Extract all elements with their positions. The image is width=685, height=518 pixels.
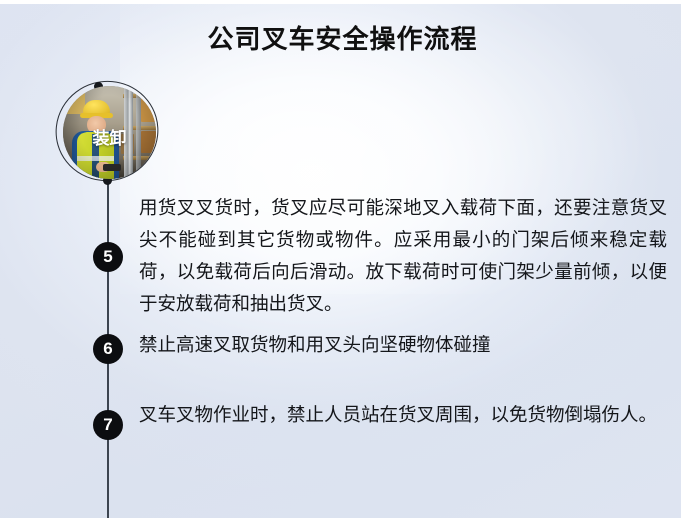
step-badge-5: 5 (93, 242, 123, 272)
worker-forklift-photo: 装卸 (63, 86, 156, 179)
photo-caption: 装卸 (63, 124, 156, 149)
step-text-6: 禁止高速叉取货物和用叉头向坚硬物体碰撞 (139, 329, 667, 361)
photo-group: 装卸 (56, 80, 162, 186)
step-text-7: 叉车叉物作业时，禁止人员站在货叉周围，以免货物倒塌伤人。 (139, 399, 667, 431)
slide-canvas: 公司叉车安全操作流程 装卸 (0, 0, 685, 518)
step-badge-7: 7 (93, 410, 123, 440)
step-text-5: 用货叉叉货时，货叉应尽可能深地叉入载荷下面，还要注意货叉尖不能碰到其它货物或物件… (139, 192, 667, 320)
page-title: 公司叉车安全操作流程 (0, 25, 685, 55)
step-badge-6: 6 (93, 334, 123, 364)
